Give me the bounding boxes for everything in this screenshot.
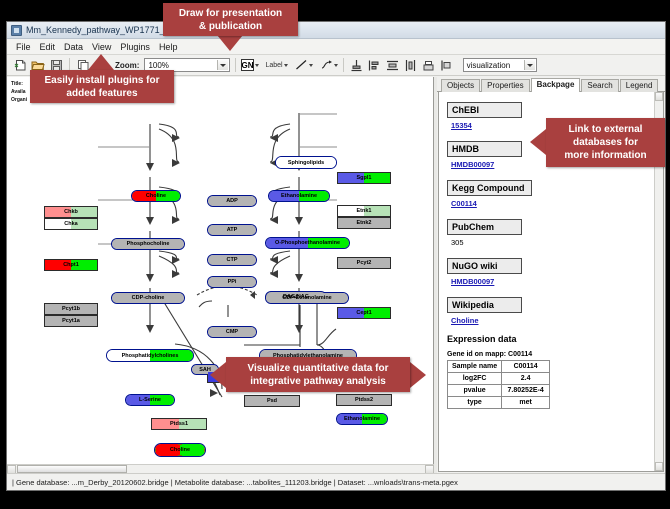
gene-node-ptdss2[interactable]: Ptdss2 (336, 394, 392, 406)
pubchem-header: PubChem (447, 219, 522, 235)
menu-plugins[interactable]: Plugins (116, 41, 155, 53)
entry-nugo: NuGO wiki HMDB00097 (447, 256, 654, 286)
pathway-drawing[interactable]: Title: Availa Organi (7, 77, 433, 472)
distribute-vertical-icon[interactable] (385, 57, 401, 73)
gene-node-pcyt1a[interactable]: Pcyt1a (44, 315, 98, 327)
callout-links-arrow-icon (530, 129, 546, 155)
node-label: ATP (227, 227, 238, 233)
expression-data-title: Expression data (447, 334, 654, 344)
pubchem-value: 305 (451, 238, 654, 247)
interaction-tool[interactable] (320, 59, 338, 71)
gene-node-ptdss1[interactable]: Ptdss1 (151, 418, 207, 430)
node-label: CMP (226, 329, 238, 335)
node-label: Etnk2 (357, 220, 372, 226)
node-label: Cept1 (356, 310, 371, 316)
selection-handle[interactable] (178, 455, 182, 457)
gene-node-chka[interactable]: Chka (44, 218, 98, 230)
entry-kegg: Kegg Compound C00114 (447, 178, 654, 208)
selection-handle[interactable] (154, 443, 156, 445)
entry-wikipedia: Wikipedia Choline (447, 295, 654, 325)
gene-node-cept1[interactable]: Cept1 (337, 307, 391, 319)
node-label: Pcyt1a (62, 318, 80, 324)
metabolite-node-atp[interactable]: ATP (207, 224, 257, 236)
gene-node-etnk2[interactable]: Etnk2 (337, 217, 391, 229)
metabolite-node-ethanolamine-top[interactable]: Ethanolamine (268, 190, 330, 202)
node-label: CDP-Ethanolamine (282, 295, 332, 301)
pathway-canvas[interactable]: Title: Availa Organi (7, 77, 434, 473)
gene-node-psd[interactable]: Psd (244, 395, 300, 407)
callout-visualize: Visualize quantitative data for integrat… (226, 357, 410, 392)
scroll-thumb[interactable] (17, 465, 127, 473)
line-tool[interactable] (295, 59, 313, 71)
menu-bar: File Edit Data View Plugins Help (7, 39, 665, 55)
chebi-header: ChEBI (447, 102, 522, 118)
node-label: Chka (64, 221, 77, 227)
callout-links: Link to external databases for more info… (546, 118, 665, 167)
metabolite-node-ppi[interactable]: PPi (207, 276, 257, 288)
visualization-combo[interactable]: visualization (463, 58, 537, 72)
node-label: Phosphatidylcholines (122, 353, 179, 359)
wikipedia-link[interactable]: Choline (451, 316, 654, 325)
node-label: Phosphocholine (127, 241, 170, 247)
visualization-value: visualization (467, 61, 511, 70)
metabolite-node-sphingolipids[interactable]: Sphingolipids (275, 156, 337, 169)
node-label: Ptdss1 (170, 421, 188, 427)
callout-plugins-text: Easily install plugins for added feature… (44, 74, 159, 100)
metabolite-node-ethanolamine-bottom[interactable]: Ethanolamine (336, 413, 388, 425)
menu-data[interactable]: Data (60, 41, 88, 53)
cell-type-value: met (502, 397, 550, 409)
callout-draw: Draw for presentation & publication (163, 3, 298, 36)
node-label: Choline (146, 193, 166, 199)
nugo-header: NuGO wiki (447, 258, 522, 274)
callout-visualize-arrow-icon (210, 362, 226, 388)
node-label: Ethanolamine (281, 193, 317, 199)
node-label: Chpt1 (63, 262, 79, 268)
menu-file[interactable]: File (12, 41, 36, 53)
cell-sample-name-label: Sample name (448, 361, 502, 373)
menu-edit[interactable]: Edit (36, 41, 61, 53)
cell-log2fc-value: 2.4 (502, 373, 550, 385)
new-file-icon[interactable] (12, 57, 28, 73)
kegg-header: Kegg Compound (447, 180, 532, 196)
node-label: Etnk1 (357, 208, 372, 214)
cell-sample-name-value: C00114 (502, 361, 550, 373)
node-label: Pcyt1b (62, 306, 80, 312)
callout-plugins-arrow-icon (88, 54, 114, 70)
zoom-label: Zoom: (115, 61, 139, 70)
status-bar: | Gene database: ...m_Derby_20120602.bri… (7, 473, 665, 490)
table-row: Sample name C00114 (448, 361, 550, 373)
cell-log2fc-label: log2FC (448, 373, 502, 385)
hmdb-header: HMDB (447, 141, 522, 157)
metabolite-node-l-serine-left[interactable]: L-Serine (125, 394, 175, 406)
datanode-tool[interactable]: GN (241, 59, 259, 71)
app-icon (11, 25, 22, 36)
node-label: O-Phosphoethanolamine (275, 240, 340, 246)
gene-node-chkb[interactable]: Chkb (44, 206, 98, 218)
canvas-horizontal-scrollbar[interactable] (7, 464, 434, 473)
order-icon[interactable] (439, 57, 455, 73)
metabolite-node-cmp[interactable]: CMP (207, 326, 257, 338)
side-panel-tabs: Objects Properties Backpage Search Legen… (437, 77, 665, 92)
metabolite-node-choline-top[interactable]: Choline (131, 190, 181, 202)
wikipedia-header: Wikipedia (447, 297, 522, 313)
screenshot-root: Mm_Kennedy_pathway_WP1771_45176.gpml Fil… (0, 0, 670, 509)
metabolite-node-cdp-choline[interactable]: CDP-choline (111, 292, 185, 304)
node-label: CTP (227, 257, 238, 263)
gene-node-sgpl1[interactable]: Sgpl1 (337, 172, 391, 184)
node-label: Ethanolamine (344, 416, 380, 422)
gene-node-etnk1[interactable]: Etnk1 (337, 205, 391, 217)
gene-node-chpt1[interactable]: Chpt1 (44, 259, 98, 271)
gene-node-pcyt2[interactable]: Pcyt2 (337, 257, 391, 269)
selection-handle[interactable] (204, 448, 206, 452)
metabolite-node-choline-selected[interactable]: Choline (154, 443, 206, 457)
node-label: Ptdss2 (355, 397, 373, 403)
metabolite-node-adp[interactable]: ADP (207, 195, 257, 207)
node-label: Psd (267, 398, 277, 404)
node-label: Pcyt2 (357, 260, 372, 266)
callout-links-text: Link to external databases for more info… (564, 123, 646, 162)
callout-draw-text: Draw for presentation & publication (179, 7, 282, 33)
chevron-down-icon-2[interactable] (524, 60, 535, 70)
menu-help[interactable]: Help (155, 41, 183, 53)
status-bar-text: | Gene database: ...m_Derby_20120602.bri… (12, 478, 458, 487)
selection-handle[interactable] (178, 443, 182, 445)
node-label: Choline (170, 447, 190, 453)
label-tool[interactable]: Label (265, 62, 287, 69)
node-label: PPi (228, 279, 237, 285)
nugo-link[interactable]: HMDB00097 (451, 277, 654, 286)
node-label: L-Serine (139, 397, 161, 403)
menu-view[interactable]: View (88, 41, 116, 53)
node-label: Sgpl1 (357, 175, 372, 181)
cell-type-label: type (448, 397, 502, 409)
node-label: Sphingolipids (288, 160, 324, 166)
align-bottom-icon[interactable] (349, 57, 365, 73)
stack-icon[interactable] (421, 57, 437, 73)
metabolite-node-o-phosphoethanolamine[interactable]: O-Phosphoethanolamine (265, 237, 350, 249)
title-bar: Mm_Kennedy_pathway_WP1771_45176.gpml (7, 22, 665, 39)
scroll-down-arrow-icon[interactable] (655, 462, 663, 471)
tab-backpage[interactable]: Backpage (531, 78, 581, 92)
node-label: ADP (226, 198, 238, 204)
callout-visualize-arrow-right-icon (410, 362, 426, 388)
metabolite-node-phosphatidylcholines[interactable]: Phosphatidylcholines (106, 349, 194, 362)
selection-handle[interactable] (154, 448, 156, 452)
node-label: Chkb (64, 209, 78, 215)
expression-table: Sample name C00114 log2FC 2.4 pvalue 7.8… (447, 360, 550, 409)
align-left-icon[interactable] (367, 57, 383, 73)
zoom-value: 100% (148, 61, 168, 70)
label-tool-text: Label (265, 62, 282, 69)
tab-objects[interactable]: Objects (441, 79, 480, 92)
kegg-link[interactable]: C00114 (451, 199, 654, 208)
node-label: CDP-choline (132, 295, 165, 301)
svg-text:GN: GN (242, 61, 254, 70)
callout-visualize-text: Visualize quantitative data for integrat… (248, 362, 389, 388)
gene-node-pcyt1b[interactable]: Pcyt1b (44, 303, 98, 315)
cell-pvalue-label: pvalue (448, 385, 502, 397)
gene-id-line: Gene id on mapp: C00114 (447, 351, 654, 358)
chevron-down-icon[interactable] (217, 60, 228, 70)
callout-draw-arrow-icon (217, 35, 243, 51)
entry-pubchem: PubChem 305 (447, 217, 654, 247)
toolbar-separator-3 (343, 58, 344, 72)
callout-plugins: Easily install plugins for added feature… (30, 70, 174, 103)
table-row: type met (448, 397, 550, 409)
table-row: pvalue 7.80252E-4 (448, 385, 550, 397)
tab-properties[interactable]: Properties (481, 79, 529, 92)
distribute-horizontal-icon[interactable] (403, 57, 419, 73)
tab-legend[interactable]: Legend (620, 79, 659, 92)
table-row: log2FC 2.4 (448, 373, 550, 385)
cell-pvalue-value: 7.80252E-4 (502, 385, 550, 397)
scroll-up-arrow-icon[interactable] (655, 92, 663, 101)
metabolite-node-ctp[interactable]: CTP (207, 254, 257, 266)
toolbar-separator-2 (235, 58, 236, 72)
tab-search[interactable]: Search (581, 79, 618, 92)
metabolite-node-phosphocholine[interactable]: Phosphocholine (111, 238, 185, 250)
